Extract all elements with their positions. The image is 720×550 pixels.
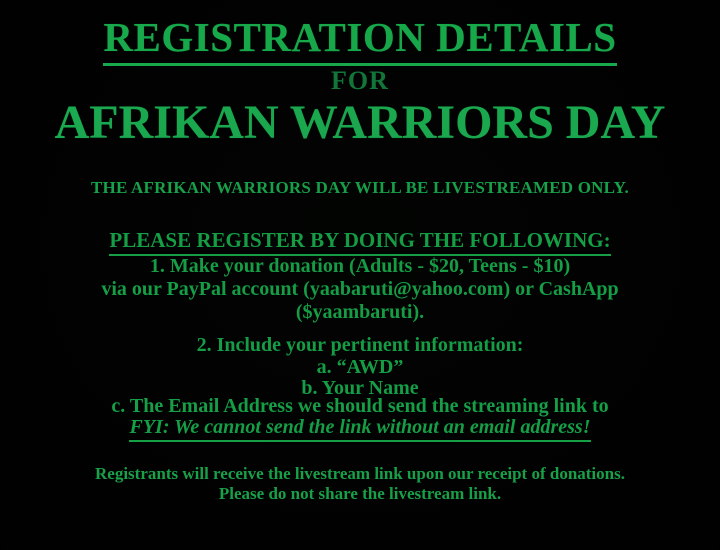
instruction-step: a. “AWD” (0, 357, 720, 377)
instruction-step: 2. Include your pertinent information: (0, 335, 720, 355)
registration-flyer: REGISTRATION DETAILS FOR AFRIKAN WARRIOR… (0, 0, 720, 550)
fyi-note: FYI: We cannot send the link without an … (0, 417, 720, 437)
instruction-step: via our PayPal account (yaabaruti@yahoo.… (0, 279, 720, 299)
flyer-title-text: REGISTRATION DETAILS (103, 14, 616, 66)
instruction-step: ($yaambaruti). (0, 302, 720, 322)
flyer-event-name: AFRIKAN WARRIORS DAY (0, 99, 720, 147)
instructions-heading-text: PLEASE REGISTER BY DOING THE FOLLOWING: (109, 228, 610, 256)
livestream-notice: THE AFRIKAN WARRIORS DAY WILL BE LIVESTR… (0, 179, 720, 196)
instruction-step: 1. Make your donation (Adults - $20, Tee… (0, 256, 720, 276)
footer-note: Registrants will receive the livestream … (0, 465, 720, 482)
fyi-note-text: FYI: We cannot send the link without an … (129, 416, 590, 442)
flyer-title: REGISTRATION DETAILS (0, 17, 720, 58)
footer-note: Please do not share the livestream link. (0, 485, 720, 502)
flyer-title-connector: FOR (0, 68, 720, 94)
instruction-step: c. The Email Address we should send the … (0, 396, 720, 416)
instructions-heading: PLEASE REGISTER BY DOING THE FOLLOWING: (0, 230, 720, 251)
